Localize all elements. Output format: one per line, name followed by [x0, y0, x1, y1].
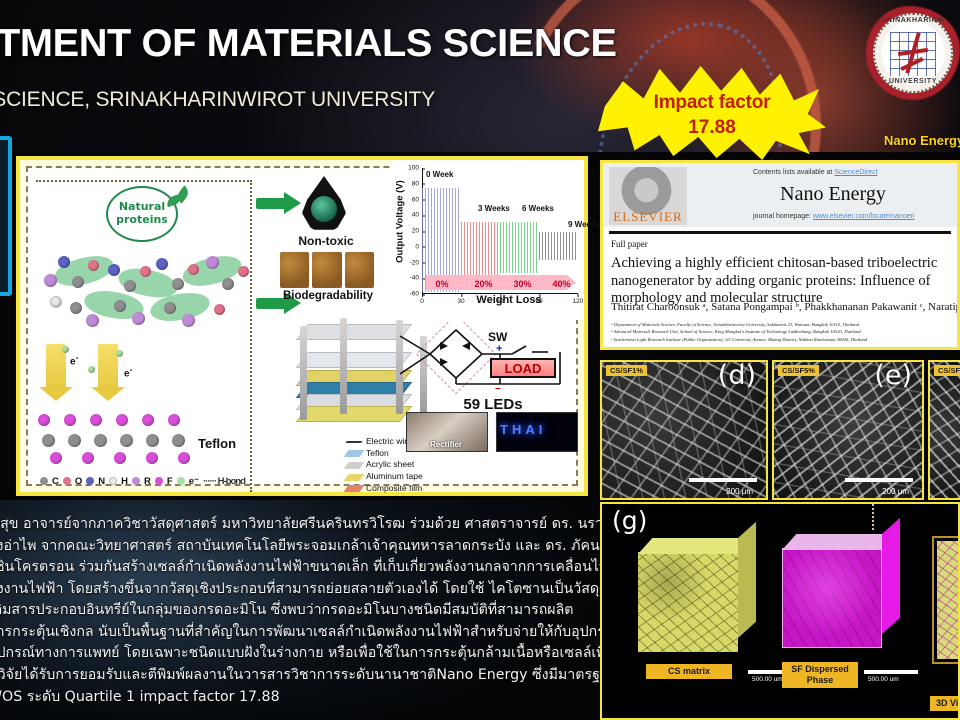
- chart-y-tick: 100: [408, 165, 422, 172]
- chart-weight-loss-0: 0%: [436, 279, 449, 289]
- sem-panel-e: CS/SF5% (e) 200 μm: [772, 360, 924, 500]
- sem-letter-d: (d): [718, 360, 756, 391]
- leaf-icon: [166, 190, 192, 210]
- chart-weight-loss-1: 20%: [475, 279, 493, 289]
- affiliation-c: ᶜ Synchrotron Light Research Institute (…: [611, 336, 955, 343]
- contents-prefix: Contents lists available at: [753, 169, 834, 176]
- seal-emblem-icon: [894, 30, 932, 76]
- chart-y-axis-label: Output Voltage (V): [395, 162, 406, 282]
- sem-scale-label-d: 200 μm: [726, 487, 753, 496]
- journal-article-header: ELSEVIER Contents lists available at Sci…: [600, 160, 960, 350]
- sciencedirect-link[interactable]: ScienceDirect: [834, 169, 877, 176]
- biodegradation-samples-image: [280, 252, 374, 288]
- seal-bottom-text: UNIVERSITY: [873, 78, 953, 85]
- chart-x-tick: 120: [573, 294, 584, 305]
- article-affiliations: ᵃ Department of Materials Science, Facul…: [611, 321, 955, 343]
- article-type: Full paper: [611, 239, 648, 249]
- sem-panel-f: CS/SF10%: [928, 360, 960, 500]
- journal-homepage-line: journal homepage: www.elsevier.com/locat…: [753, 213, 915, 220]
- svg-text:−: −: [495, 384, 501, 394]
- tomography-dotted-connector: [872, 504, 874, 530]
- rectifier-photo-caption: Rectifier: [430, 440, 462, 449]
- university-seal-logo: SRINAKHARINW UNIVERSITY: [866, 6, 960, 100]
- sem-letter-e: (e): [874, 360, 912, 391]
- cs-matrix-scale-label: 500.00 um: [752, 676, 783, 683]
- legend-label-n: N: [98, 476, 105, 487]
- impact-factor-label: Impact factor: [598, 92, 826, 114]
- legend-label-o: O: [75, 476, 82, 487]
- chart-y-tick: -20: [410, 259, 422, 266]
- legend-label-h: H: [121, 476, 128, 487]
- thai-line-6: การกระตุ้นเชิงกล นับเป็นพื้นฐานที่สำคัญใ…: [0, 622, 600, 644]
- chart-y-tick: 0: [415, 243, 422, 250]
- journal-name: Nano Energy: [713, 183, 953, 206]
- homepage-prefix: journal homepage:: [753, 213, 813, 220]
- 3d-visualization-frame: [932, 536, 960, 664]
- cs-matrix-cube: [638, 538, 758, 654]
- thai-line-8: นวิจัยได้รับการยอมรับและตีพิมพ์ผลงานในวา…: [0, 665, 600, 687]
- article-authors: Thitirat Charoonsuk ᵃ, Satana Pongampai …: [611, 301, 955, 313]
- device-legend-label-composite: Composite film: [366, 483, 422, 495]
- thai-line-5: เติมสารประกอบอินทรีย์ในกลุ่มของกรดอะมิโน…: [0, 600, 600, 622]
- sem-tag-f: CS/SF10%: [934, 365, 960, 376]
- sf-dispersed-scalebar: [864, 670, 918, 674]
- poster-canvas: RTMENT OF MATERIALS SCIENCE F SCIENCE, S…: [0, 0, 960, 720]
- device-legend-item: Aluminum tape: [346, 471, 423, 483]
- thai-line-4: ลังงานไฟฟ้า โดยสร้างขึ้นจากวัสดุเชิงประก…: [0, 579, 600, 601]
- chart-y-tick: 20: [412, 228, 422, 235]
- thai-description-text: ญสุข อาจารย์จากภาควิชาวัสดุศาสตร์ มหาวิท…: [0, 514, 600, 708]
- sem-image-row: CS/SF1% (d) 200 μm CS/SF5% (e) 200 μm CS…: [600, 360, 960, 500]
- chart-weight-loss-2: 30%: [514, 279, 532, 289]
- leds-caption: 59 LEDs: [408, 396, 578, 413]
- affiliation-b: ᵇ Advanced Materials Research Unit, Scho…: [611, 328, 955, 335]
- contents-line: Contents lists available at ScienceDirec…: [753, 169, 878, 176]
- thai-line-2: องอ่าไพ จากคณะวิทยาศาสตร์ สถาบันเทคโนโลย…: [0, 536, 600, 558]
- degradation-voltage-chart: Output Voltage (V) -60-40-20020406080100…: [392, 160, 584, 320]
- sf-dispersed-label: SF Dispersed Phase: [782, 662, 858, 688]
- legend-label-electron: e⁻: [189, 476, 199, 487]
- thai-line-3: งซินโครตรอน ร่วมกันสร้างเซลล์กำเนิดพลังง…: [0, 557, 600, 579]
- device-legend-item: Composite film: [346, 483, 423, 495]
- thai-line-9: WOS ระดับ Quartile 1 impact factor 17.88: [0, 687, 600, 709]
- dashed-divider-top: [36, 180, 252, 182]
- impact-factor-value: 17.88: [598, 117, 826, 139]
- chart-weight-loss-3: 40%: [553, 279, 571, 289]
- natural-proteins-line2: proteins: [108, 214, 176, 227]
- teflon-label: Teflon: [198, 436, 236, 451]
- sem-scale-label-e: 200 μm: [882, 487, 909, 496]
- tomography-panel-letter: (g): [612, 506, 647, 535]
- sem-scalebar-e: [845, 478, 913, 482]
- chart-x-tick: 0: [420, 294, 424, 305]
- 3d-visualization-label: 3D Visualization: [930, 696, 960, 711]
- biodegradability-label: Biodegradability: [272, 290, 384, 302]
- electron-transfer-illustration: e- e-: [40, 344, 245, 414]
- thai-line-1: ญสุข อาจารย์จากภาควิชาวัสดุศาสตร์ มหาวิท…: [0, 514, 600, 536]
- chart-y-tick: 60: [412, 196, 422, 203]
- non-toxic-label: Non-toxic: [286, 234, 366, 248]
- arrow-to-nontoxic-icon: [256, 192, 302, 214]
- chart-series-label-0: 0 Week: [426, 170, 453, 179]
- device-legend-label-acrylic: Acrylic sheet: [366, 459, 414, 471]
- weight-loss-label: Weight Loss: [444, 294, 574, 306]
- affiliation-a: ᵃ Department of Materials Science, Facul…: [611, 321, 955, 328]
- tomography-panel: (g) CS matrix 500.00 um SF Dispersed Pha…: [600, 502, 960, 720]
- sf-dispersed-scale-label: 500.00 um: [868, 676, 899, 683]
- chart-y-tick: 80: [412, 180, 422, 187]
- molecule-legend: C O N H R F e⁻ ······ H-bond: [40, 474, 252, 488]
- chart-y-tick: 40: [412, 212, 422, 219]
- thai-line-7: อุปกรณ์ทางการแพทย์ โดยเฉพาะชนิดแบบฝังในร…: [0, 643, 600, 665]
- sem-panel-d: CS/SF1% (d) 200 μm: [600, 360, 768, 500]
- sem-tag-e: CS/SF5%: [778, 365, 819, 376]
- elsevier-wordmark: ELSEVIER: [609, 209, 687, 225]
- page-subtitle: F SCIENCE, SRINAKHARINWIROT UNIVERSITY: [0, 88, 435, 112]
- journal-homepage-link[interactable]: www.elsevier.com/locate/nanoen: [813, 213, 915, 220]
- legend-label-f: F: [167, 476, 173, 487]
- svg-text:+: +: [496, 343, 502, 355]
- device-legend-item: Acrylic sheet: [346, 459, 423, 471]
- led-word-display: THAI: [500, 422, 574, 442]
- legend-label-c: C: [52, 476, 59, 487]
- device-legend-label-teflon: Teflon: [366, 448, 389, 460]
- sem-scalebar-d: [689, 478, 757, 482]
- journal-divider: [609, 231, 951, 234]
- seal-top-text: SRINAKHARINW: [873, 17, 953, 24]
- sem-tag-d: CS/SF1%: [606, 365, 647, 376]
- cs-matrix-label: CS matrix: [646, 664, 732, 679]
- left-cyan-card: [0, 136, 12, 296]
- protein-helix-illustration: [36, 240, 261, 338]
- legend-label-r: R: [144, 476, 151, 487]
- chart-y-tick: -40: [410, 275, 422, 282]
- device-legend-label-wire: Electric wire: [366, 436, 412, 448]
- legend-label-hbond: ······ H-bond: [203, 476, 245, 487]
- page-title: RTMENT OF MATERIALS SCIENCE: [0, 22, 617, 66]
- device-legend-label-aluminum: Aluminum tape: [366, 471, 423, 483]
- switch-label: SW: [488, 330, 507, 344]
- nano-energy-badge: Nano Energy: [884, 133, 960, 148]
- load-label: LOAD: [490, 358, 556, 378]
- sf-dispersed-cube: [782, 534, 904, 652]
- chart-series-label-3: 9 Weeks: [568, 220, 600, 229]
- thai-description-area: ญสุข อาจารย์จากภาควิชาวัสดุศาสตร์ มหาวิท…: [0, 500, 600, 720]
- sem-fiber-image: [928, 360, 960, 500]
